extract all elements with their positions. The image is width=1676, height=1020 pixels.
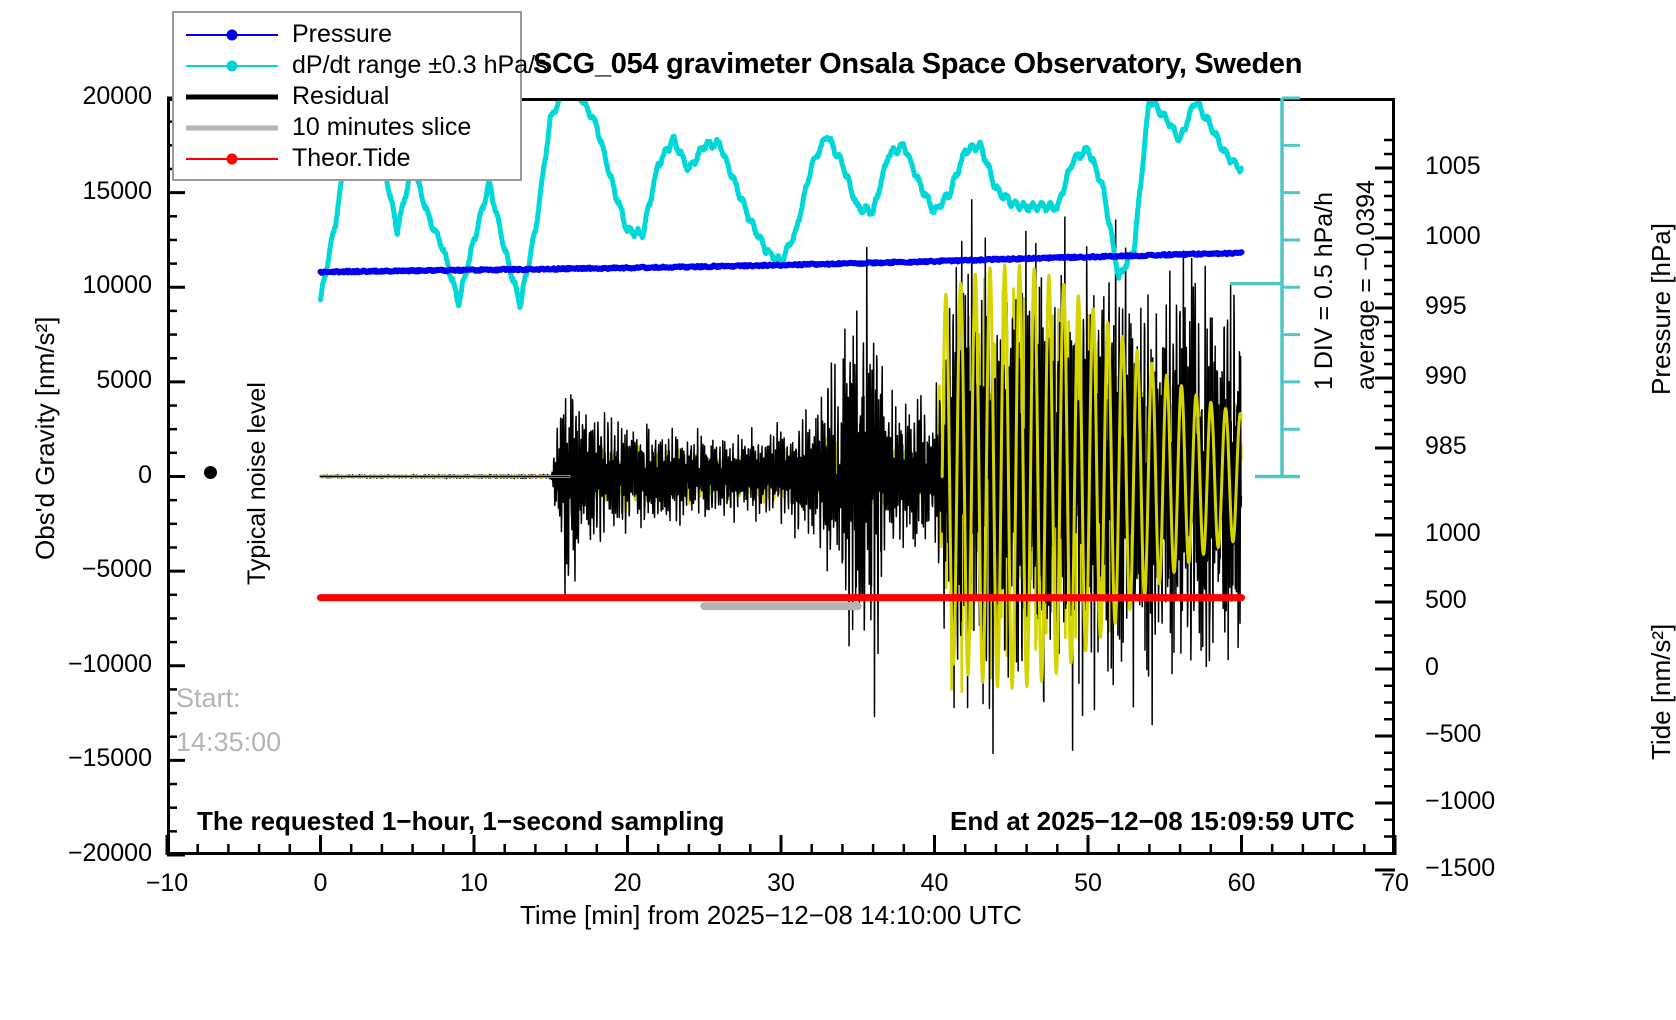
line-marker-icon [186, 56, 278, 76]
bottom-tick-label-2: 10 [414, 869, 534, 898]
typical-noise-marker-icon [204, 466, 217, 479]
bottom-tick-label-1: 0 [261, 869, 381, 898]
left-tick-label-8: −20000 [0, 839, 152, 868]
legend-item-1[interactable]: dP/dt range ±0.3 hPa/s [174, 50, 520, 81]
typical-noise-label: Typical noise level [243, 382, 272, 585]
line-marker-icon [186, 149, 278, 169]
tide-tick-label-3: −500 [1425, 720, 1555, 749]
legend-marker-dot-icon [227, 29, 238, 40]
bottom-tick-label-6: 50 [1028, 869, 1148, 898]
bottom-tick-label-5: 40 [875, 869, 995, 898]
pressure-tick-label-3: 990 [1425, 362, 1535, 391]
legend-item-label: 10 minutes slice [292, 113, 471, 142]
tide-tick-label-4: −1000 [1425, 787, 1555, 816]
legend-item-2[interactable]: Residual [174, 81, 520, 112]
legend-item-label: Theor.Tide [292, 144, 411, 173]
right-tide-axis-title: Tide [nm/s²] [1646, 624, 1676, 760]
left-tick-label-4: 0 [0, 461, 152, 490]
bottom-tick-label-3: 20 [568, 869, 688, 898]
scalebar-average-label: average = −0.0394 [1352, 180, 1381, 390]
right-pressure-axis-title: Pressure [hPa] [1646, 223, 1676, 395]
left-tick-label-3: 5000 [0, 366, 152, 395]
start-time: 14:35:00 [176, 727, 281, 758]
plot-frame [167, 98, 1395, 855]
left-tick-label-6: −10000 [0, 650, 152, 679]
legend-item-label: Residual [292, 82, 389, 111]
legend-item-0[interactable]: Pressure [174, 19, 520, 50]
tide-tick-label-5: −1500 [1425, 854, 1555, 883]
bottom-tick-label-0: −10 [107, 869, 227, 898]
pressure-tick-label-2: 995 [1425, 292, 1535, 321]
sampling-note: The requested 1−hour, 1−second sampling [197, 806, 724, 837]
left-tick-label-7: −15000 [0, 744, 152, 773]
left-tick-label-1: 15000 [0, 177, 152, 206]
legend-item-3[interactable]: 10 minutes slice [174, 112, 520, 143]
tide-tick-label-2: 0 [1425, 653, 1555, 682]
bottom-tick-label-7: 60 [1182, 869, 1302, 898]
legend[interactable]: PressuredP/dt range ±0.3 hPa/sResidual10… [172, 11, 522, 181]
scalebar-division-label: 1 DIV = 0.5 hPa/h [1310, 192, 1339, 390]
tide-tick-label-0: 1000 [1425, 519, 1555, 548]
left-tick-label-2: 10000 [0, 271, 152, 300]
pressure-tick-label-4: 985 [1425, 432, 1535, 461]
legend-marker-dot-icon [227, 60, 238, 71]
start-label: Start: [176, 683, 241, 714]
gravimeter-chart-figure: 20000150001000050000−5000−10000−15000−20… [0, 0, 1676, 1020]
left-tick-label-5: −5000 [0, 555, 152, 584]
legend-item-label: Pressure [292, 20, 392, 49]
legend-marker-dot-icon [227, 153, 238, 164]
line-icon [186, 87, 278, 107]
line-marker-icon [186, 25, 278, 45]
legend-item-label: dP/dt range ±0.3 hPa/s [292, 51, 548, 80]
line-icon [186, 118, 278, 138]
left-axis-title: Obs'd Gravity [nm/s²] [30, 317, 61, 560]
legend-item-4[interactable]: Theor.Tide [174, 143, 520, 174]
bottom-axis-title: Time [min] from 2025−12−08 14:10:00 UTC [520, 900, 1022, 931]
pressure-tick-label-1: 1000 [1425, 222, 1535, 251]
left-tick-label-0: 20000 [0, 82, 152, 111]
bottom-tick-label-4: 30 [721, 869, 841, 898]
pressure-tick-label-0: 1005 [1425, 152, 1535, 181]
tide-tick-label-1: 500 [1425, 586, 1555, 615]
end-time-note: End at 2025−12−08 15:09:59 UTC [950, 806, 1355, 837]
chart-title: SCG_054 gravimeter Onsala Space Observat… [533, 48, 1302, 81]
